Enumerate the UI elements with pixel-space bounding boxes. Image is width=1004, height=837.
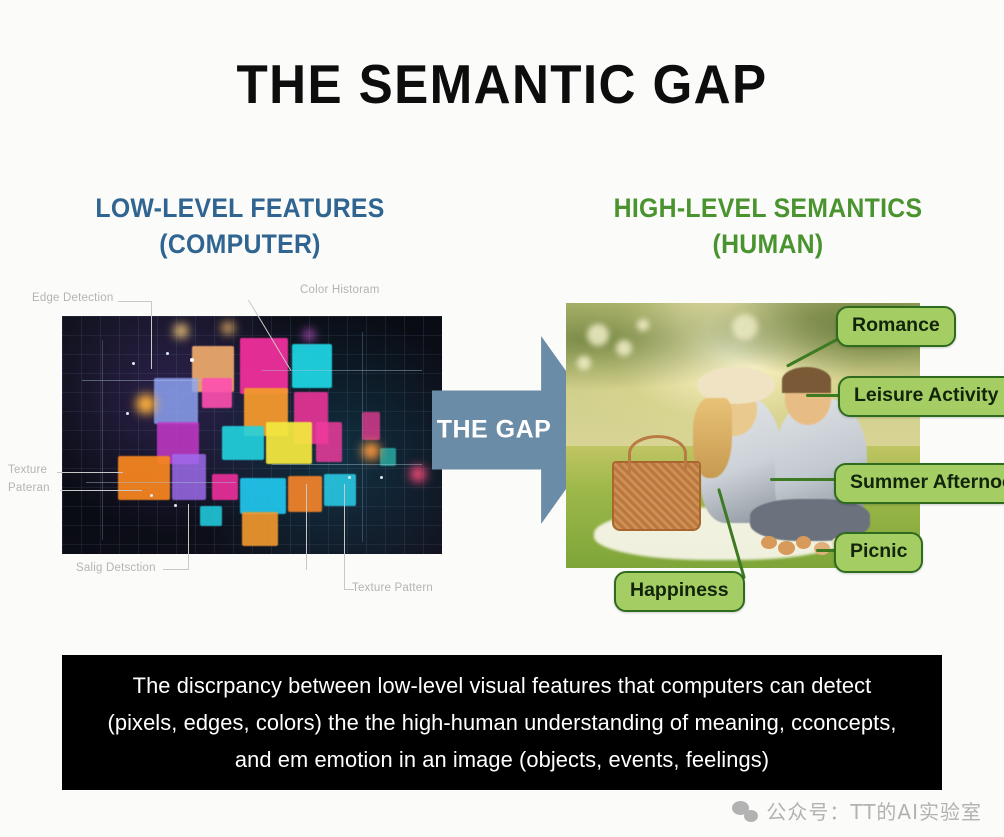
node-dot: [174, 504, 177, 507]
watermark-text: 公众号：TT的AI实验室: [766, 796, 982, 825]
feature-block: [288, 476, 322, 512]
feature-block: [292, 344, 332, 388]
leader-line: [57, 472, 123, 473]
caption-text: The discrpancy between low-level visual …: [75, 667, 929, 778]
wire: [82, 380, 202, 381]
callout-happiness[interactable]: Happiness: [614, 571, 745, 612]
node-dot: [132, 362, 135, 365]
infographic-canvas: THE SEMANTIC GAP LOW-LEVEL FEATURES (COM…: [0, 0, 1004, 837]
leader-line: [118, 301, 152, 302]
wire: [86, 482, 236, 483]
annotation-texture-pattern: Texture Pattern: [352, 582, 433, 594]
bokeh-light: [732, 314, 758, 340]
feature-block: [240, 478, 286, 514]
wire: [102, 340, 103, 540]
watermark: 公众号：TT的AI实验室: [732, 796, 982, 825]
wechat-icon: [732, 800, 758, 822]
bokeh-light: [616, 340, 632, 356]
node-dot: [126, 412, 129, 415]
basket-handle: [628, 435, 687, 472]
feature-block: [242, 512, 278, 546]
callout-leader-summer: [770, 478, 842, 481]
right-column-heading: HIGH-LEVEL SEMANTICS (HUMAN): [566, 190, 971, 262]
caption-box: The discrpancy between low-level visual …: [62, 655, 942, 790]
feature-block: [200, 506, 222, 526]
wire: [262, 370, 422, 371]
leader-line: [344, 484, 345, 590]
arrow-label: THE GAP: [432, 416, 556, 445]
leader-line: [151, 301, 152, 369]
leader-line: [163, 569, 189, 570]
callout-summer-afternoon[interactable]: Summer Afternoo: [834, 463, 1004, 504]
glow-point: [136, 394, 156, 414]
feature-block: [324, 474, 356, 506]
bokeh-light: [637, 319, 649, 331]
node-dot: [380, 476, 383, 479]
node-dot: [348, 476, 351, 479]
callout-leader-leisure: [806, 394, 840, 397]
leader-line: [188, 504, 189, 570]
node-dot: [190, 358, 194, 362]
annotation-edge-detection: Edge Detection: [32, 292, 113, 304]
glow-point: [410, 466, 426, 482]
left-heading-line-2: (COMPUTER): [45, 226, 435, 262]
feature-block: [202, 378, 232, 408]
feature-block: [266, 422, 312, 464]
feature-block: [212, 474, 238, 500]
glow-point: [304, 330, 314, 340]
low-level-features-panel: Edge Detection Color Historam Texture Pa…: [0, 280, 470, 610]
glow-point: [362, 442, 380, 460]
annotation-saliency-detection: Salig Detsction: [76, 562, 156, 574]
glow-point: [222, 322, 234, 334]
leader-line: [60, 490, 142, 491]
leader-line: [344, 589, 354, 590]
left-column-heading: LOW-LEVEL FEATURES (COMPUTER): [45, 190, 435, 262]
bokeh-light: [577, 356, 591, 370]
annotation-color-histogram: Color Historam: [300, 284, 379, 296]
right-heading-line-2: (HUMAN): [566, 226, 971, 262]
node-dot: [150, 494, 153, 497]
right-heading-line-1: HIGH-LEVEL SEMANTICS: [566, 190, 971, 226]
page-title: THE SEMANTIC GAP: [35, 52, 969, 116]
feature-block: [316, 422, 342, 462]
node-dot: [166, 352, 169, 355]
feature-visualization-image: [62, 316, 442, 554]
feature-block: [222, 426, 264, 460]
annotation-pateran: Pateran: [8, 482, 50, 494]
feature-block: [172, 454, 206, 500]
feature-block: [240, 338, 288, 394]
wire: [362, 332, 363, 542]
feature-block: [154, 378, 198, 424]
wire: [272, 464, 422, 465]
food-item: [778, 541, 795, 555]
callout-leisure-activity[interactable]: Leisure Activity: [838, 376, 1004, 417]
left-heading-line-1: LOW-LEVEL FEATURES: [45, 190, 435, 226]
feature-block: [362, 412, 380, 440]
callout-romance[interactable]: Romance: [836, 306, 956, 347]
annotation-texture: Texture: [8, 464, 47, 476]
leader-line: [306, 484, 307, 570]
man-hair: [782, 367, 832, 394]
glow-point: [174, 324, 188, 338]
callout-picnic[interactable]: Picnic: [834, 532, 923, 573]
feature-block: [118, 456, 170, 500]
